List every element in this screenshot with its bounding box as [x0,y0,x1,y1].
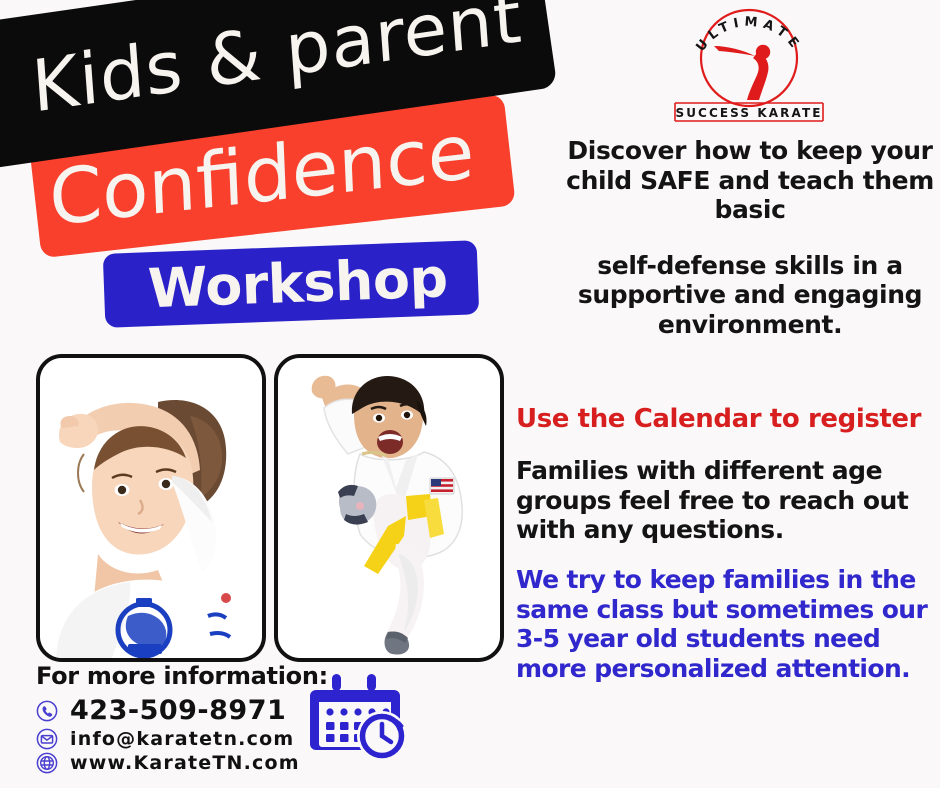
calendar-cta-text: Use the Calendar to register [516,404,936,434]
logo-arc-text: ULTIMATE [693,14,804,54]
contact-row-phone[interactable]: 423-509-8971 [36,695,336,726]
calendar-clock-svg [310,672,414,766]
keep-families-paragraph: We try to keep families in the same clas… [516,565,936,683]
globe-icon [36,752,58,774]
contact-heading: For more information: [36,662,336,690]
girl-raising-arm-photo [36,354,266,662]
contact-block: For more information: 423-509-8971 info@… [36,662,336,776]
contact-website: www.KarateTN.com [70,752,300,774]
headline-paragraph-2: self-defense skills in a supportive and … [560,251,940,340]
girl-photo-svg [40,358,262,658]
families-paragraph: Families with different age groups feel … [516,456,931,545]
contact-row-website[interactable]: www.KarateTN.com [36,752,336,774]
logo-svg: ULTIMATE SUCCESS KARATE [665,2,833,124]
boy-photo-svg [278,358,500,658]
contact-phone: 423-509-8971 [70,695,286,726]
logo-name-text: SUCCESS KARATE [675,106,822,120]
headline-block: Discover how to keep your child SAFE and… [560,136,940,339]
calendar-clock-icon[interactable] [310,672,414,766]
phone-icon [36,700,58,722]
karate-figure-icon [714,45,770,100]
title-banner-blue: Workshop [103,240,479,328]
title-line-3: Workshop [103,246,449,324]
envelope-icon [36,728,58,750]
ultimate-success-karate-logo: ULTIMATE SUCCESS KARATE [665,2,833,124]
headline-paragraph-1: Discover how to keep your child SAFE and… [560,136,940,225]
flyer-canvas: Kids & parent Confidence Workshop ULTIMA… [0,0,940,788]
contact-row-email[interactable]: info@karatetn.com [36,728,336,750]
contact-email: info@karatetn.com [70,728,294,750]
boy-karate-kick-photo [274,354,504,662]
usa-flag-patch [431,479,453,492]
